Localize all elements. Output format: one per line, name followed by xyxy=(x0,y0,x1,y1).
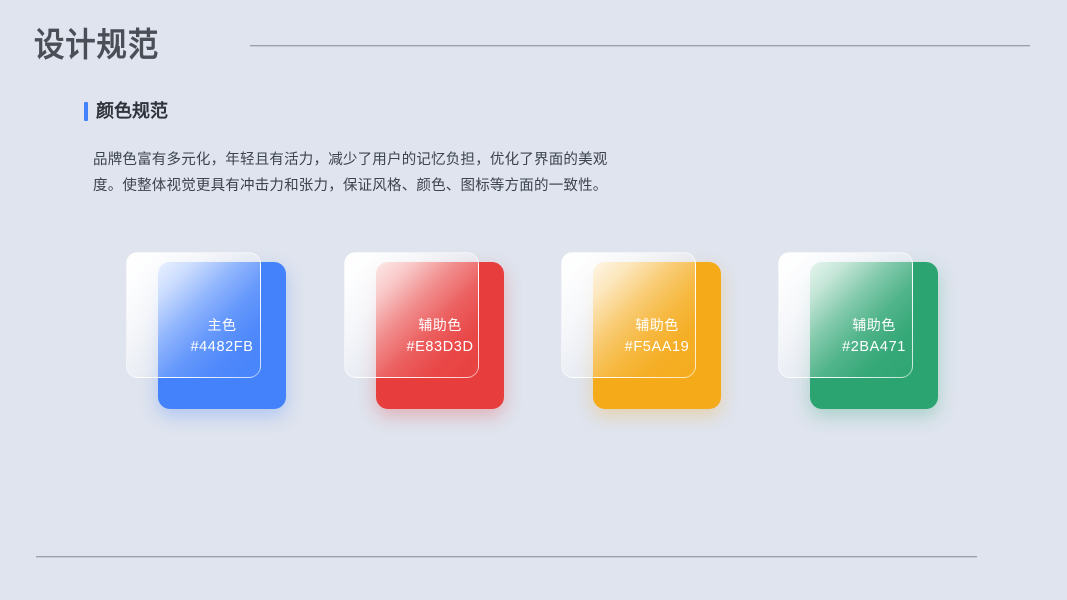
section-description: 品牌色富有多元化，年轻且有活力，减少了用户的记忆负担，优化了界面的美观 度。使整… xyxy=(93,147,673,199)
color-swatch-card[interactable]: 主色 #4482FB xyxy=(126,252,286,412)
page-header: 设计规范 xyxy=(0,0,1067,90)
section-title: 颜色规范 xyxy=(96,101,168,121)
description-line-1: 品牌色富有多元化，年轻且有活力，减少了用户的记忆负担，优化了界面的美观 xyxy=(93,147,673,173)
swatch-glass-overlay xyxy=(344,252,479,378)
color-swatch-card[interactable]: 辅助色 #E83D3D xyxy=(344,252,504,412)
color-swatch-row: 主色 #4482FB 辅助色 #E83D3D 辅助色 #F5AA19 辅助色 #… xyxy=(126,252,956,412)
header-divider xyxy=(250,45,1030,47)
swatch-glass-overlay xyxy=(126,252,261,378)
description-line-2: 度。使整体视觉更具有冲击力和张力，保证风格、颜色、图标等方面的一致性。 xyxy=(93,173,673,199)
footer-divider xyxy=(36,556,977,558)
section-heading: 颜色规范 xyxy=(84,101,168,121)
swatch-glass-overlay xyxy=(561,252,696,378)
accent-bar-icon xyxy=(84,102,88,121)
color-swatch-card[interactable]: 辅助色 #F5AA19 xyxy=(561,252,721,412)
swatch-glass-overlay xyxy=(778,252,913,378)
page-title: 设计规范 xyxy=(34,24,159,66)
color-swatch-card[interactable]: 辅助色 #2BA471 xyxy=(778,252,938,412)
